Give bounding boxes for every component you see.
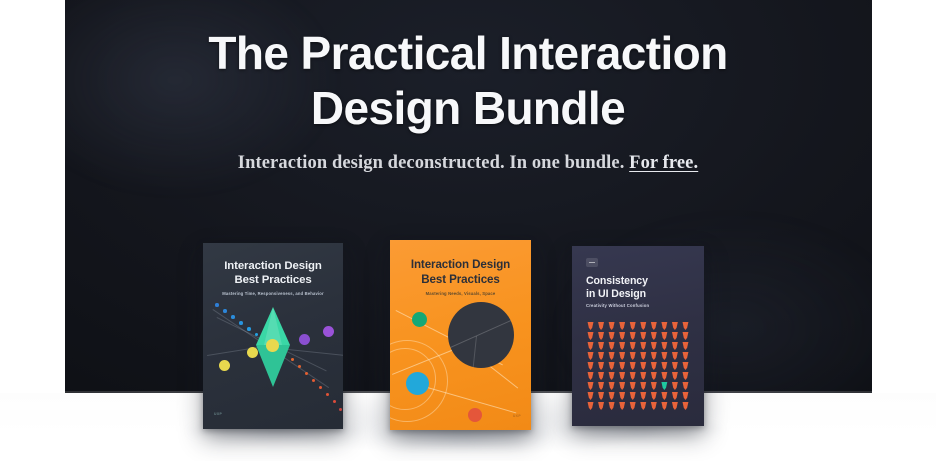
book-cover-interaction-design-orange[interactable]: Interaction Design Best Practices Master… bbox=[390, 240, 531, 430]
glyph-item bbox=[650, 352, 657, 360]
glyph-item bbox=[682, 342, 689, 350]
glyph-item bbox=[640, 382, 647, 390]
book-3-glyph-grid bbox=[586, 322, 690, 410]
book-2-brand: UXP bbox=[513, 414, 521, 418]
glyph-item bbox=[598, 322, 605, 330]
glyph-item bbox=[608, 322, 615, 330]
glyph-item bbox=[598, 332, 605, 340]
glyph-item bbox=[619, 332, 626, 340]
glyph-highlight bbox=[661, 382, 668, 390]
glyph-item bbox=[640, 342, 647, 350]
glyph-item bbox=[629, 332, 636, 340]
book-1-title-line1: Interaction Design bbox=[224, 260, 322, 272]
glyph-item bbox=[608, 392, 615, 400]
glyph-item bbox=[640, 402, 647, 410]
book-3-logo-badge bbox=[586, 258, 598, 267]
glyph-item bbox=[598, 342, 605, 350]
glyph-item bbox=[661, 392, 668, 400]
glyph-item bbox=[608, 402, 615, 410]
glyph-item bbox=[587, 382, 594, 390]
glyph-item bbox=[629, 372, 636, 380]
glyph-item bbox=[598, 402, 605, 410]
subtitle-text: Interaction design deconstructed. In one… bbox=[238, 153, 625, 173]
glyph-item bbox=[640, 392, 647, 400]
book-2-subtitle: Mastering Needs, Visuals, Space bbox=[390, 291, 531, 296]
glyph-item bbox=[598, 352, 605, 360]
glyph-item bbox=[608, 362, 615, 370]
book-1-circle-purple-b bbox=[323, 326, 334, 337]
glyph-item bbox=[671, 352, 678, 360]
glyph-item bbox=[640, 372, 647, 380]
glyph-item bbox=[608, 342, 615, 350]
glyph-item bbox=[682, 322, 689, 330]
page-title: The Practical Interaction Design Bundle bbox=[0, 26, 936, 136]
glyph-item bbox=[682, 352, 689, 360]
glyph-item bbox=[587, 352, 594, 360]
glyph-item bbox=[619, 382, 626, 390]
glyph-item bbox=[598, 392, 605, 400]
glyph-item bbox=[608, 382, 615, 390]
book-2-circle-red bbox=[468, 408, 482, 422]
glyph-item bbox=[629, 322, 636, 330]
glyph-item bbox=[661, 352, 668, 360]
for-free-link[interactable]: For free. bbox=[629, 153, 698, 173]
glyph-item bbox=[608, 352, 615, 360]
glyph-item bbox=[619, 322, 626, 330]
glyph-item bbox=[629, 382, 636, 390]
glyph-item bbox=[650, 392, 657, 400]
book-2-circle-blue bbox=[406, 372, 429, 395]
book-1-circle-purple-a bbox=[299, 334, 310, 345]
glyph-item bbox=[661, 332, 668, 340]
glyph-item bbox=[598, 382, 605, 390]
headline-line-1: The Practical Interaction bbox=[208, 27, 727, 79]
glyph-item bbox=[650, 332, 657, 340]
book-3-title: Consistency in UI Design bbox=[586, 275, 690, 302]
book-3-title-line1: Consistency bbox=[586, 275, 648, 287]
glyph-item bbox=[661, 322, 668, 330]
book-1-subtitle: Mastering Time, Responsiveness, and Beha… bbox=[203, 291, 343, 296]
glyph-item bbox=[587, 322, 594, 330]
glyph-item bbox=[661, 342, 668, 350]
glyph-item bbox=[640, 332, 647, 340]
glyph-item bbox=[682, 332, 689, 340]
hero-banner: The Practical Interaction Design Bundle … bbox=[0, 0, 936, 461]
glyph-item bbox=[619, 392, 626, 400]
glyph-item bbox=[650, 382, 657, 390]
glyph-item bbox=[671, 332, 678, 340]
glyph-item bbox=[629, 392, 636, 400]
book-2-circle-green bbox=[412, 312, 427, 327]
book-2-title-line1: Interaction Design bbox=[411, 258, 510, 271]
glyph-item bbox=[587, 332, 594, 340]
glyph-item bbox=[682, 402, 689, 410]
glyph-item bbox=[619, 372, 626, 380]
glyph-item bbox=[661, 372, 668, 380]
glyph-item bbox=[671, 392, 678, 400]
glyph-item bbox=[671, 382, 678, 390]
headline-line-2: Design Bundle bbox=[0, 81, 936, 136]
glyph-item bbox=[619, 362, 626, 370]
glyph-item bbox=[671, 322, 678, 330]
glyph-item bbox=[650, 372, 657, 380]
glyph-item bbox=[587, 402, 594, 410]
book-cover-interaction-design-dark[interactable]: Interaction Design Best Practices Master… bbox=[203, 243, 343, 429]
glyph-item bbox=[671, 402, 678, 410]
book-1-circle-yellow-left bbox=[219, 360, 230, 371]
glyph-item bbox=[587, 392, 594, 400]
book-1-brand: UXP bbox=[214, 412, 222, 416]
glyph-item bbox=[587, 372, 594, 380]
book-3-title-line2: in UI Design bbox=[586, 288, 646, 300]
glyph-item bbox=[661, 402, 668, 410]
glyph-item bbox=[587, 342, 594, 350]
glyph-item bbox=[587, 362, 594, 370]
book-2-title: Interaction Design Best Practices bbox=[390, 258, 531, 287]
glyph-item bbox=[640, 322, 647, 330]
glyph-item bbox=[682, 372, 689, 380]
glyph-item bbox=[619, 352, 626, 360]
glyph-item bbox=[598, 362, 605, 370]
glyph-item bbox=[682, 362, 689, 370]
glyph-item bbox=[629, 402, 636, 410]
glyph-item bbox=[640, 352, 647, 360]
glyph-item bbox=[608, 372, 615, 380]
glyph-item bbox=[640, 362, 647, 370]
book-1-diamond-core bbox=[266, 339, 279, 352]
glyph-item bbox=[650, 322, 657, 330]
glyph-item bbox=[629, 352, 636, 360]
glyph-item bbox=[619, 342, 626, 350]
book-2-title-line2: Best Practices bbox=[421, 273, 500, 286]
glyph-item bbox=[671, 362, 678, 370]
glyph-item bbox=[682, 392, 689, 400]
glyph-item bbox=[650, 362, 657, 370]
glyph-item bbox=[671, 342, 678, 350]
glyph-item bbox=[629, 362, 636, 370]
glyph-item bbox=[629, 342, 636, 350]
glyph-item bbox=[619, 402, 626, 410]
book-cover-consistency-ui-design[interactable]: Consistency in UI Design Creativity With… bbox=[572, 246, 704, 426]
glyph-item bbox=[650, 342, 657, 350]
glyph-item bbox=[661, 362, 668, 370]
page-subtitle: Interaction design deconstructed. In one… bbox=[0, 153, 936, 174]
book-3-subtitle: Creativity Without Confusion bbox=[586, 303, 690, 308]
book-1-title-line2: Best Practices bbox=[234, 274, 311, 286]
glyph-item bbox=[650, 402, 657, 410]
glyph-item bbox=[598, 372, 605, 380]
glyph-item bbox=[608, 332, 615, 340]
glyph-item bbox=[671, 372, 678, 380]
glyph-item bbox=[682, 382, 689, 390]
book-1-title: Interaction Design Best Practices bbox=[203, 259, 343, 288]
